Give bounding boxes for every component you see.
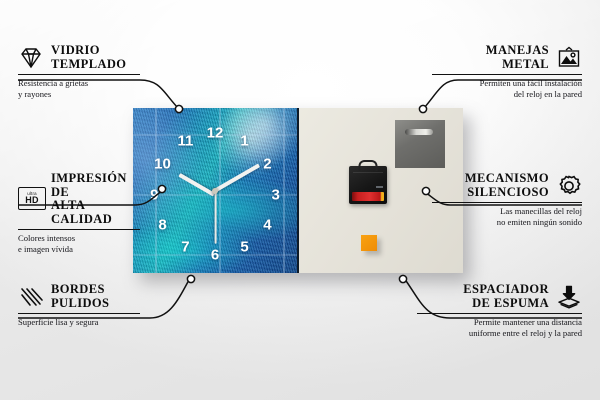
diamond-icon	[18, 46, 44, 70]
clock-numeral: 7	[181, 239, 189, 254]
feature-title: BORDES PULIDOS	[51, 283, 109, 310]
movement-seam	[353, 172, 383, 173]
metal-hanger-plate	[395, 120, 445, 168]
clock-numeral: 1	[240, 134, 248, 149]
product-image: 12 1 2 3 4 5 6 7 8 9 10 11	[133, 108, 463, 273]
feature-rule	[18, 229, 140, 230]
connector-dot-bordes	[187, 275, 194, 282]
beveled-edge-icon	[18, 285, 44, 309]
movement-contacts	[376, 186, 383, 188]
feature-subtitle: Resistencia a grietas y rayones	[18, 78, 140, 99]
infographic-canvas: 12 1 2 3 4 5 6 7 8 9 10 11	[0, 0, 600, 400]
picture-frame-hanger-icon	[556, 46, 582, 70]
hanger-slot	[405, 129, 433, 135]
clock-numeral: 8	[158, 218, 166, 233]
feature-mecanismo-silencioso: MECANISMO SILENCIOSO Las manecillas del …	[432, 172, 582, 228]
clock-numeral: 12	[207, 125, 224, 140]
clock-numeral: 3	[272, 188, 280, 203]
ultra-hd-icon-main-text: HD	[25, 196, 39, 205]
clock-numeral: 2	[263, 157, 271, 172]
foam-spacer	[361, 235, 377, 251]
feature-bordes-pulidos: BORDES PULIDOS Superficie lisa y segura	[18, 283, 140, 328]
clock-numeral: 5	[240, 239, 248, 254]
gear-icon	[556, 174, 582, 198]
second-hand	[215, 191, 217, 243]
battery	[352, 192, 384, 201]
feature-rule	[18, 74, 140, 75]
connector-dot-espaciador	[399, 275, 406, 282]
hand-pivot	[212, 188, 218, 194]
feature-title: ESPACIADOR DE ESPUMA	[463, 283, 549, 310]
feature-rule	[432, 74, 582, 75]
feature-subtitle: Permite mantener una distancia uniforme …	[417, 317, 582, 338]
feature-subtitle: Colores intensos e imagen vívida	[18, 233, 140, 254]
feature-espaciador-de-espuma: ESPACIADOR DE ESPUMA Permite mantener un…	[417, 283, 582, 339]
ultra-hd-icon: ultra HD	[18, 187, 44, 211]
feature-subtitle: Las manecillas del reloj no emiten ningú…	[432, 206, 582, 227]
feature-rule	[417, 313, 582, 314]
feature-title: IMPRESIÓN DE ALTA CALIDAD	[51, 172, 140, 226]
feature-subtitle: Permiten una fácil instalación del reloj…	[432, 78, 582, 99]
feature-title: MANEJAS METAL	[486, 44, 549, 71]
clock-numeral: 9	[150, 188, 158, 203]
clock-numeral: 4	[263, 218, 271, 233]
feature-title: MECANISMO SILENCIOSO	[465, 172, 549, 199]
quartz-movement	[349, 166, 387, 204]
clock-numeral: 11	[178, 134, 194, 149]
clock-face: 12 1 2 3 4 5 6 7 8 9 10 11	[133, 108, 297, 273]
feature-title: VIDRIO TEMPLADO	[51, 44, 126, 71]
feature-subtitle: Superficie lisa y segura	[18, 317, 140, 328]
feature-manejas-metal: MANEJAS METAL Permiten una fácil instala…	[432, 44, 582, 100]
feature-vidrio-templado: VIDRIO TEMPLADO Resistencia a grietas y …	[18, 44, 140, 100]
movement-hanger-tab	[359, 160, 378, 171]
arrow-onto-layers-icon	[556, 285, 582, 309]
clock-numeral: 6	[211, 247, 219, 262]
clock-numeral: 10	[154, 157, 171, 172]
feature-impresion-alta-calidad: ultra HD IMPRESIÓN DE ALTA CALIDAD Color…	[18, 172, 140, 255]
feature-rule	[18, 313, 140, 314]
feature-rule	[432, 202, 582, 203]
